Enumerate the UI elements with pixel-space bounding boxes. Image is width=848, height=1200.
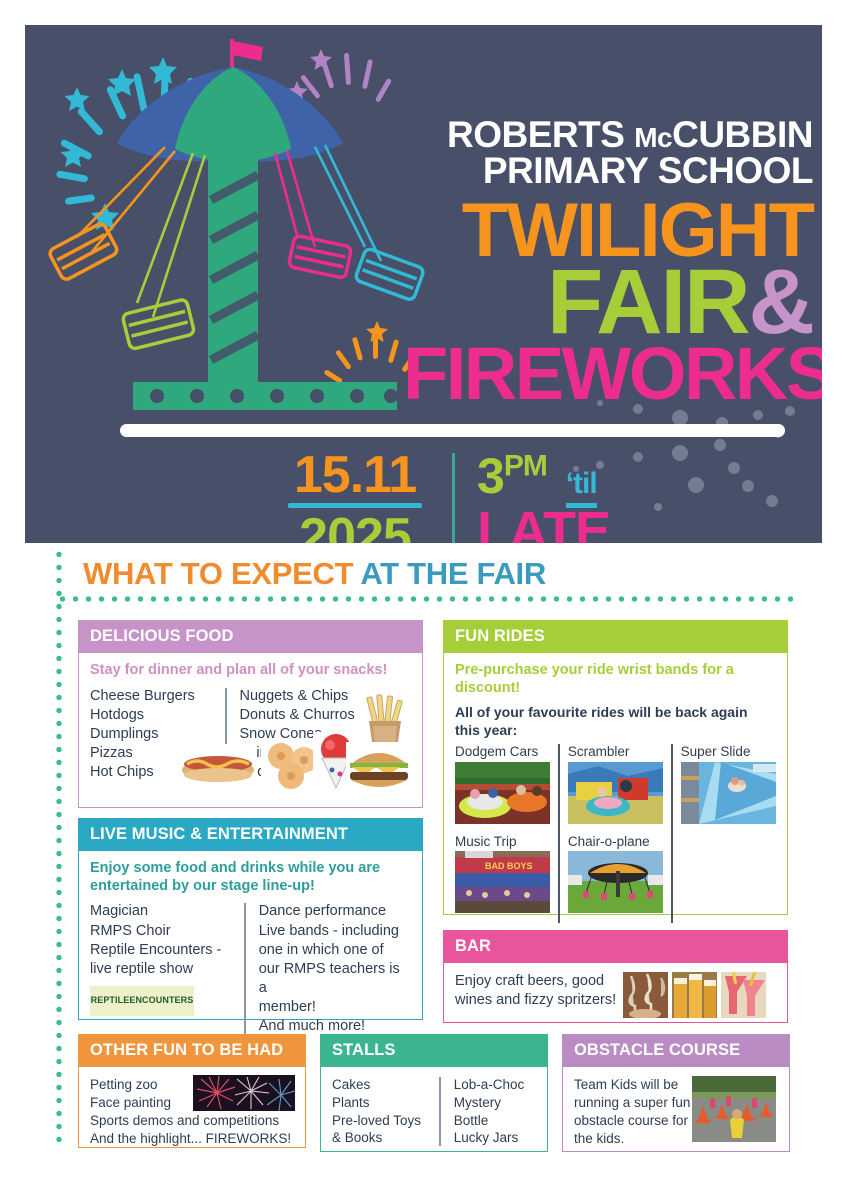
hero-title-block: ROBERTS McCUBBIN PRIMARY SCHOOL TWILIGHT… — [403, 117, 813, 406]
panel-heading-food: DELICIOUS FOOD — [79, 621, 422, 653]
ride-column-3: Super Slide — [681, 744, 776, 923]
stalls-list-left: Cakes Plants Pre-loved Toys & Books — [332, 1076, 426, 1147]
panel-other-fun: OTHER FUN TO BE HAD Petting zoo Face pai… — [78, 1034, 306, 1148]
ride-label-scrambler: Scrambler — [568, 744, 663, 760]
ride-label-chair-o-plane: Chair-o-plane — [568, 834, 663, 850]
hotdog-photo — [179, 744, 257, 788]
music-list-left: Magician RMPS Choir Reptile Encounters -… — [90, 902, 231, 979]
stalls-list-right: Lob-a-Choc Mystery Bottle Lucky Jars — [454, 1076, 536, 1147]
panel-heading-stalls: STALLS — [321, 1035, 547, 1067]
reptile-encounters-logo: REPTILE ENCOUNTERS — [90, 986, 194, 1016]
beer-photo — [672, 972, 717, 1018]
event-end-time: LATE — [477, 503, 610, 543]
school-name-line1: ROBERTS McCUBBIN — [403, 117, 813, 153]
white-wine-photo — [623, 972, 668, 1018]
date-time-block: 15.11 2025 3PM ‘til LATE — [280, 449, 610, 543]
food-lede: Stay for dinner and plan all of your sna… — [90, 662, 411, 680]
event-date: 15.11 — [280, 449, 430, 501]
panel-heading-bar: BAR — [444, 931, 787, 963]
event-year: 2025 — [280, 511, 430, 543]
fireworks-photo — [193, 1075, 295, 1111]
obstacle-course-photo — [692, 1076, 776, 1142]
word-fair-amp: FAIR& — [403, 263, 813, 342]
dodgem-cars-photo — [455, 762, 550, 824]
scrambler-photo — [568, 762, 663, 824]
word-fireworks: FIREWORKS — [403, 342, 813, 406]
school-name-line2: PRIMARY SCHOOL — [403, 153, 813, 189]
chair-o-plane-photo — [568, 851, 663, 913]
page-title-secondary: AT THE FAIR — [360, 556, 546, 591]
panel-heading-obstacle: OBSTACLE COURSE — [563, 1035, 789, 1067]
svg-text:BAD BOYS: BAD BOYS — [485, 861, 533, 871]
time-meridiem: PM — [504, 449, 547, 482]
dotted-border-left — [56, 548, 62, 1148]
bar-description: Enjoy craft beers, good wines and fizzy … — [455, 972, 623, 1010]
panel-heading-other-fun: OTHER FUN TO BE HAD — [79, 1035, 305, 1067]
ride-label-dodgem-cars: Dodgem Cars — [455, 744, 550, 760]
column-divider — [439, 1077, 440, 1146]
time-block: 3PM ‘til LATE — [477, 449, 610, 543]
panel-stalls: STALLS Cakes Plants Pre-loved Toys & Boo… — [320, 1034, 548, 1152]
ride-column-1: Dodgem Cars Music Trip BAD BOYS — [455, 744, 550, 923]
rides-lede: Pre-purchase your ride wrist bands for a… — [455, 662, 776, 697]
event-start-time: 3PM ‘til — [477, 451, 610, 501]
music-list-right: Dance performance Live bands - including… — [259, 902, 411, 1036]
ride-label-music-trip: Music Trip — [455, 834, 550, 850]
cocktail-photo — [721, 972, 766, 1018]
panel-live-music: LIVE MUSIC & ENTERTAINMENT Enjoy some fo… — [78, 818, 423, 1020]
ride-column-divider-1 — [558, 744, 559, 923]
vertical-divider — [452, 453, 455, 543]
obstacle-description: Team Kids will be running a super fun ob… — [574, 1076, 692, 1148]
dotted-border-top — [56, 596, 793, 602]
page-title-primary: WHAT TO EXPECT — [83, 556, 353, 591]
ride-label-super-slide: Super Slide — [681, 744, 776, 760]
swing-carousel-illustration — [25, 25, 445, 445]
music-trip-photo: BAD BOYS — [455, 851, 550, 913]
date-block: 15.11 2025 — [280, 449, 430, 543]
hero-banner: ROBERTS McCUBBIN PRIMARY SCHOOL TWILIGHT… — [25, 25, 822, 543]
music-lede: Enjoy some food and drinks while you are… — [90, 860, 411, 895]
cheeseburger-photo — [346, 742, 412, 790]
page-title: WHAT TO EXPECT AT THE FAIR — [83, 556, 546, 592]
panel-fun-rides: FUN RIDES Pre-purchase your ride wrist b… — [443, 620, 788, 915]
column-divider — [244, 903, 245, 1035]
panel-bar: BAR Enjoy craft beers, good wines and fi… — [443, 930, 788, 1023]
rides-subtext: All of your favourite rides will be back… — [455, 704, 776, 739]
ride-column-divider-2 — [671, 744, 672, 923]
panel-delicious-food: DELICIOUS FOOD Stay for dinner and plan … — [78, 620, 423, 808]
white-divider-bar — [120, 424, 785, 437]
panel-heading-music: LIVE MUSIC & ENTERTAINMENT — [79, 819, 422, 851]
reptile-logo-line2: ENCOUNTERS — [129, 996, 193, 1005]
panel-heading-rides: FUN RIDES — [444, 621, 787, 653]
panel-obstacle-course: OBSTACLE COURSE Team Kids will be runnin… — [562, 1034, 790, 1152]
music-list-left-wrap: Magician RMPS Choir Reptile Encounters -… — [90, 902, 231, 1036]
reptile-logo-line1: REPTILE — [91, 996, 130, 1005]
super-slide-photo — [681, 762, 776, 824]
ride-column-2: Scrambler Chair-o-plane — [568, 744, 663, 923]
